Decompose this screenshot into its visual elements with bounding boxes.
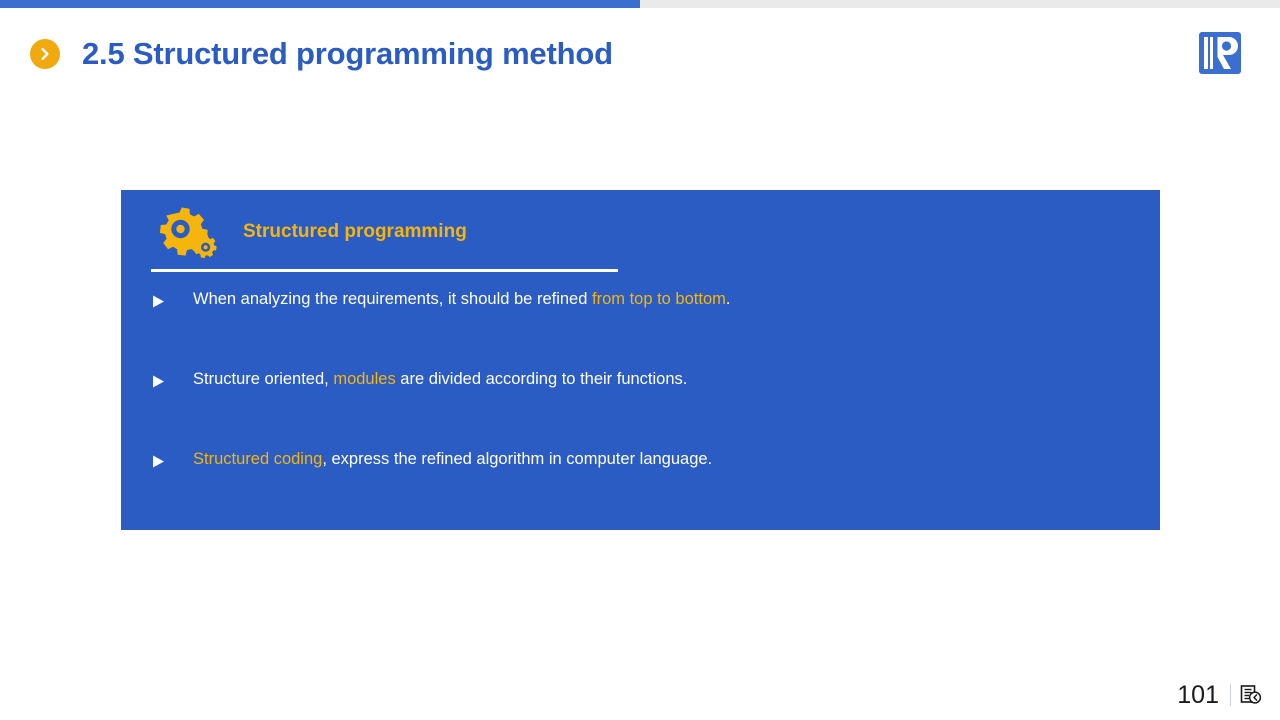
panel-heading: Structured programming [151,204,467,260]
text-segment: , express the refined algorithm in compu… [322,450,712,468]
progress-bar-fill [0,0,640,8]
triangle-right-icon [151,448,173,469]
slide-footer: 101 [1177,678,1262,712]
list-item-text: When analyzing the requirements, it shou… [193,288,730,310]
footer-divider [1230,684,1231,706]
panel-heading-divider [151,269,618,272]
bullet-list: When analyzing the requirements, it shou… [151,288,1111,528]
highlighted-text-segment: modules [333,370,395,388]
text-segment: are divided according to their functions… [396,370,688,388]
content-panel: Structured programming When analyzing th… [121,190,1160,530]
progress-bar-track [0,0,1280,8]
gears-icon [151,204,223,260]
highlighted-text-segment: Structured coding [193,450,322,468]
text-segment: When analyzing the requirements, it shou… [193,290,592,308]
list-item: Structure oriented, modules are divided … [151,368,1111,448]
chevron-right-circle-icon [30,39,60,69]
page-number: 101 [1177,681,1219,710]
list-item: When analyzing the requirements, it shou… [151,288,1111,368]
book-r-logo-icon [1199,31,1241,75]
list-item: Structured coding, express the refined a… [151,448,1111,528]
document-back-icon[interactable] [1240,684,1262,706]
text-segment: Structure oriented, [193,370,333,388]
triangle-right-icon [151,368,173,389]
triangle-right-icon [151,288,173,309]
slide-title-row: 2.5 Structured programming method [30,30,613,78]
list-item-text: Structured coding, express the refined a… [193,448,712,470]
list-item-text: Structure oriented, modules are divided … [193,368,687,390]
panel-heading-label: Structured programming [243,221,467,243]
text-segment: . [726,290,731,308]
page-title: 2.5 Structured programming method [82,36,613,72]
highlighted-text-segment: from top to bottom [592,290,726,308]
